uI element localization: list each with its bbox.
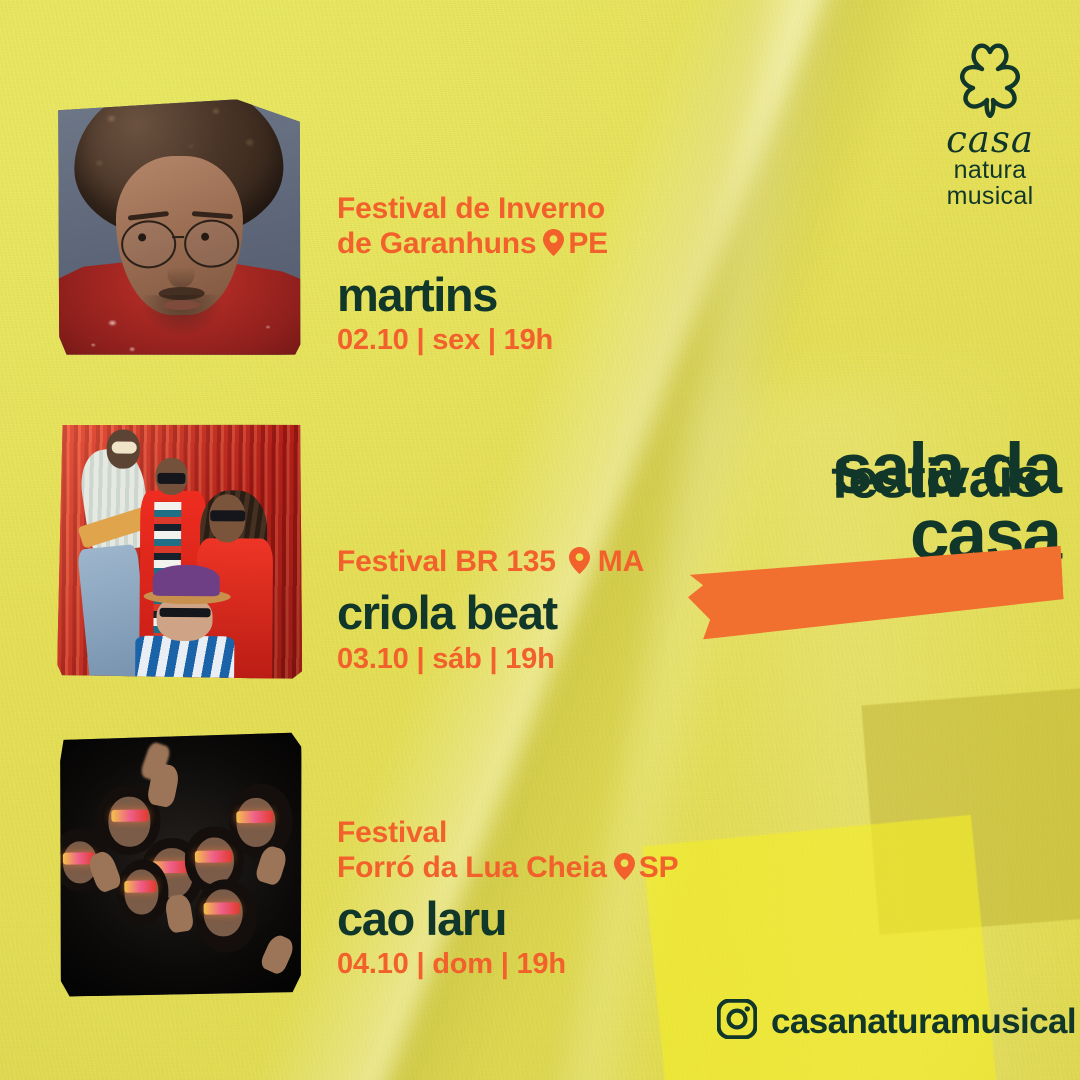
separator: | bbox=[489, 643, 497, 675]
event-photo-martins bbox=[57, 99, 303, 358]
logo-word-musical: musical bbox=[925, 183, 1055, 209]
event-date: 03.10 bbox=[337, 643, 409, 675]
event-datetime: 03.10 | sáb | 19h bbox=[337, 644, 644, 676]
artist-name: cao laru bbox=[337, 894, 678, 945]
separator: | bbox=[416, 643, 424, 675]
event-photo-criola-beat bbox=[57, 421, 304, 679]
state-code: PE bbox=[568, 227, 608, 260]
festival-name: Festival de Inverno de GaranhunsPE bbox=[337, 192, 608, 265]
instagram-handle[interactable]: casanaturamusical bbox=[771, 1002, 1076, 1042]
event-photo-cao-laru bbox=[56, 731, 305, 996]
brand-logo: casa natura musical bbox=[925, 42, 1055, 210]
separator: | bbox=[501, 948, 509, 980]
separator: | bbox=[416, 948, 424, 980]
event-time: 19h bbox=[504, 324, 553, 356]
location-pin-icon bbox=[569, 547, 590, 583]
event-item-martins: Festival de Inverno de GaranhunsPE marti… bbox=[337, 192, 608, 357]
festival-name-line-1: Festival bbox=[337, 816, 447, 849]
state-code: MA bbox=[598, 545, 644, 578]
festival-name-line-2: de Garanhuns bbox=[337, 227, 536, 260]
event-item-cao-laru: Festival Forró da Lua CheiaSP cao laru 0… bbox=[337, 816, 678, 981]
festival-name: Festival BR 135MA bbox=[337, 545, 644, 583]
instagram-icon[interactable] bbox=[717, 999, 757, 1044]
event-weekday: dom bbox=[432, 948, 493, 980]
casa-natura-flower-icon bbox=[925, 42, 1055, 118]
festival-name-line-2: Forró da Lua Cheia bbox=[337, 851, 607, 884]
separator: | bbox=[416, 324, 424, 356]
event-datetime: 02.10 | sex | 19h bbox=[337, 325, 608, 357]
state-code: SP bbox=[639, 851, 679, 884]
event-time: 19h bbox=[505, 643, 554, 675]
poster-canvas: casa natura musical sala da casa festiva… bbox=[0, 0, 1080, 1080]
location-pin-icon bbox=[543, 229, 564, 265]
location-pin-icon bbox=[614, 853, 635, 889]
event-date: 04.10 bbox=[337, 948, 409, 980]
event-time: 19h bbox=[516, 948, 565, 980]
logo-word-casa: casa bbox=[925, 122, 1055, 157]
festival-name-line-1: Festival BR 135 bbox=[337, 545, 556, 578]
festival-name-line-1: Festival de Inverno bbox=[337, 192, 605, 225]
festival-name: Festival Forró da Lua CheiaSP bbox=[337, 816, 678, 889]
event-item-criola-beat: Festival BR 135MA criola beat 03.10 | sá… bbox=[337, 545, 644, 675]
event-weekday: sex bbox=[432, 324, 480, 356]
instagram-handle-row[interactable]: casanaturamusical bbox=[717, 999, 1076, 1044]
event-datetime: 04.10 | dom | 19h bbox=[337, 949, 678, 981]
event-weekday: sáb bbox=[432, 643, 481, 675]
festivais-label: festivais bbox=[831, 445, 1043, 510]
artist-name: criola beat bbox=[337, 588, 644, 639]
separator: | bbox=[488, 324, 496, 356]
poster-title: sala da casa festivais bbox=[700, 437, 1060, 569]
artist-name: martins bbox=[337, 270, 608, 321]
logo-word-natura: natura bbox=[925, 157, 1055, 183]
event-date: 02.10 bbox=[337, 324, 409, 356]
